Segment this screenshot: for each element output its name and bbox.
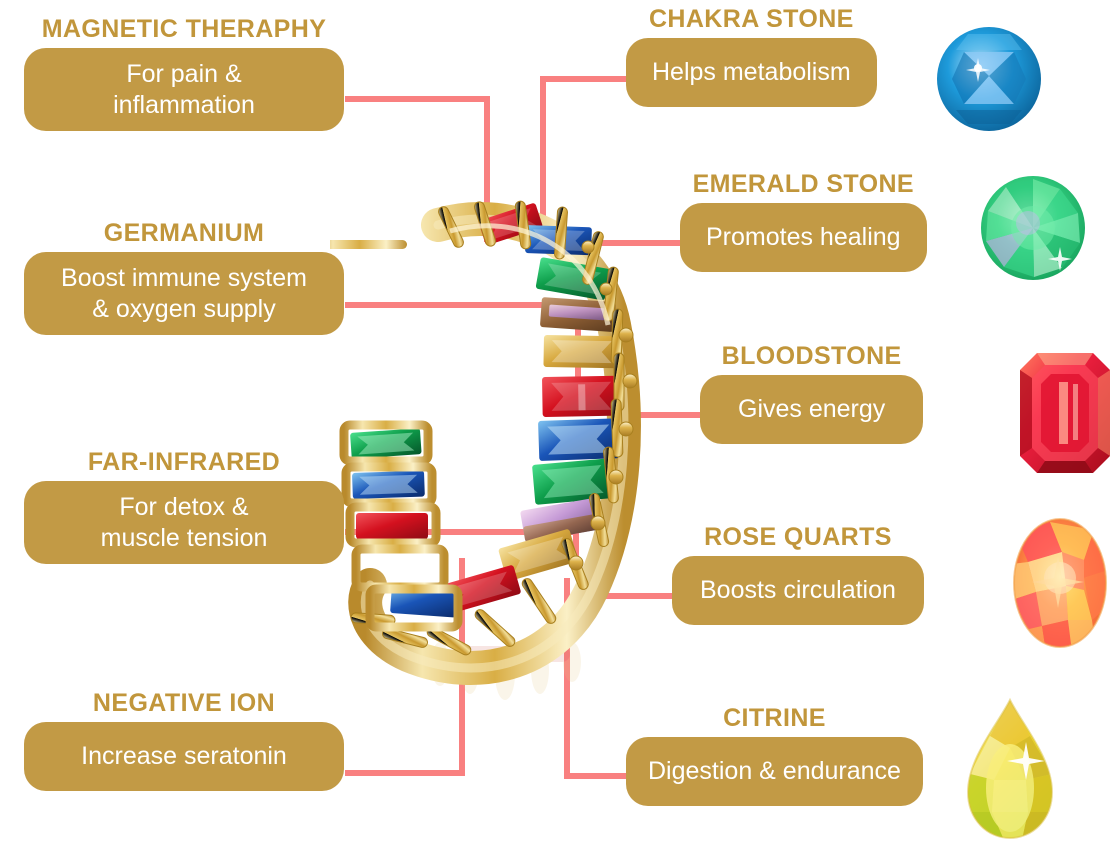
emerald-stone-gem bbox=[978, 173, 1088, 283]
callout-pill-rose-quarts[interactable]: Boosts circulation bbox=[672, 556, 924, 625]
callout-pill-far-infrared[interactable]: For detox & muscle tension bbox=[24, 481, 344, 564]
callout-rose-quarts[interactable]: ROSE QUARTS Boosts circulation bbox=[672, 524, 924, 625]
callout-line-1: Increase seratonin bbox=[42, 741, 326, 772]
citrine-gem bbox=[960, 696, 1060, 842]
callout-heading-negative-ion: NEGATIVE ION bbox=[24, 690, 344, 716]
callout-text: Gives energy bbox=[738, 395, 885, 423]
callout-line-1: For detox & bbox=[42, 492, 326, 523]
callout-line-2: muscle tension bbox=[42, 523, 326, 554]
callout-heading-bloodstone: BLOODSTONE bbox=[700, 343, 923, 369]
callout-pill-magnetic-therapy[interactable]: For pain & inflammation bbox=[24, 48, 344, 131]
callout-emerald-stone[interactable]: EMERALD STONE Promotes healing bbox=[680, 171, 927, 272]
callout-pill-emerald-stone[interactable]: Promotes healing bbox=[680, 203, 927, 272]
callout-heading-citrine: CITRINE bbox=[626, 705, 923, 731]
callout-heading-emerald-stone: EMERALD STONE bbox=[680, 171, 927, 197]
bloodstone-gem bbox=[1017, 350, 1113, 476]
callout-pill-citrine[interactable]: Digestion & endurance bbox=[626, 737, 923, 806]
chakra-stone-gem bbox=[934, 24, 1044, 134]
callout-bloodstone[interactable]: BLOODSTONE Gives energy bbox=[700, 343, 923, 444]
callout-heading-far-infrared: FAR-INFRARED bbox=[24, 449, 344, 475]
callout-heading-magnetic-therapy: MAGNETIC THERAPHY bbox=[24, 16, 344, 42]
rose-quarts-gem bbox=[1010, 516, 1110, 650]
callout-line-1: Boost immune system bbox=[42, 263, 326, 294]
callout-line-2: inflammation bbox=[42, 90, 326, 121]
callout-heading-rose-quarts: ROSE QUARTS bbox=[672, 524, 924, 550]
gemstone-hoop-earring-image bbox=[330, 185, 680, 685]
callout-magnetic-therapy[interactable]: MAGNETIC THERAPHY For pain & inflammatio… bbox=[24, 16, 344, 131]
callout-pill-negative-ion[interactable]: Increase seratonin bbox=[24, 722, 344, 791]
callout-line-2: & oxygen supply bbox=[42, 294, 326, 325]
callout-pill-bloodstone[interactable]: Gives energy bbox=[700, 375, 923, 444]
callout-far-infrared[interactable]: FAR-INFRARED For detox & muscle tension bbox=[24, 449, 344, 564]
callout-negative-ion[interactable]: NEGATIVE ION Increase seratonin bbox=[24, 690, 344, 791]
callout-heading-germanium: GERMANIUM bbox=[24, 220, 344, 246]
callout-text: Digestion & endurance bbox=[648, 757, 901, 785]
callout-pill-chakra-stone[interactable]: Helps metabolism bbox=[626, 38, 877, 107]
callout-text: Promotes healing bbox=[706, 223, 901, 251]
callout-text: Boosts circulation bbox=[700, 576, 896, 604]
callout-pill-germanium[interactable]: Boost immune system & oxygen supply bbox=[24, 252, 344, 335]
callout-text: Helps metabolism bbox=[652, 58, 851, 86]
callout-germanium[interactable]: GERMANIUM Boost immune system & oxygen s… bbox=[24, 220, 344, 335]
infographic-canvas: MAGNETIC THERAPHY For pain & inflammatio… bbox=[0, 0, 1120, 846]
callout-line-1: For pain & bbox=[42, 59, 326, 90]
callout-citrine[interactable]: CITRINE Digestion & endurance bbox=[626, 705, 923, 806]
callout-chakra-stone[interactable]: CHAKRA STONE Helps metabolism bbox=[626, 6, 877, 107]
callout-heading-chakra-stone: CHAKRA STONE bbox=[626, 6, 877, 32]
